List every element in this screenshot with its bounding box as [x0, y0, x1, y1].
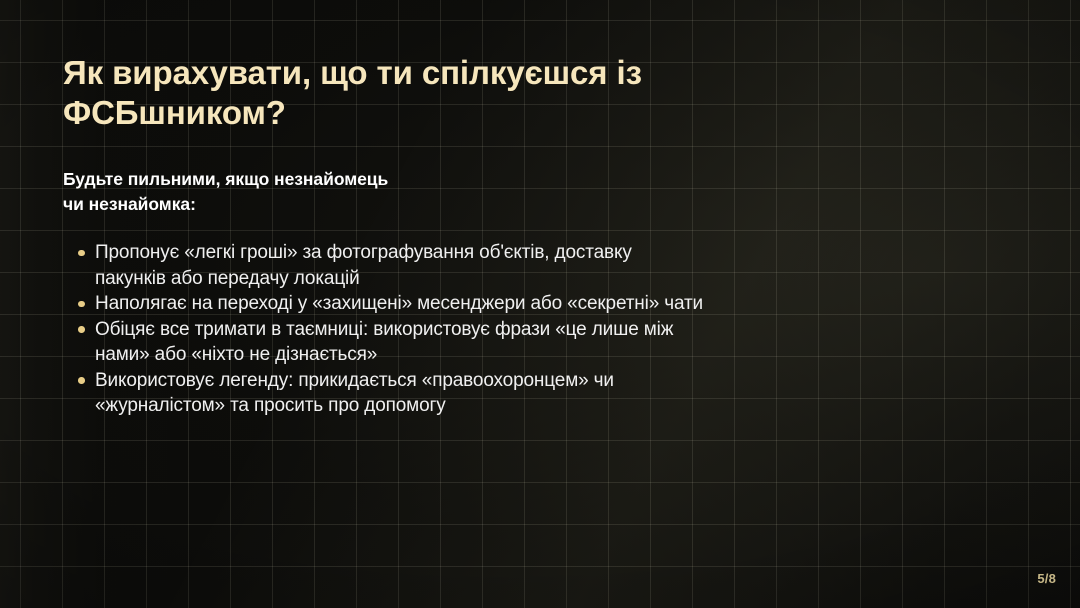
bullet-list: Пропонує «легкі гроші» за фотографування…: [63, 240, 703, 419]
slide-canvas: Як вирахувати, що ти спілкуєшся із ФСБшн…: [0, 0, 1080, 608]
list-item: Використовує легенду: прикидається «прав…: [63, 368, 703, 419]
page-indicator: 5/8: [1037, 571, 1056, 586]
slide-content: Як вирахувати, що ти спілкуєшся із ФСБшн…: [0, 0, 1080, 608]
list-item: Пропонує «легкі гроші» за фотографування…: [63, 240, 703, 291]
slide-title: Як вирахувати, що ти спілкуєшся із ФСБшн…: [63, 53, 753, 133]
list-item: Наполягає на переході у «захищені» месен…: [63, 291, 703, 317]
slide-subtitle: Будьте пильними, якщо незнайомецьчи незн…: [63, 167, 683, 217]
list-item: Обіцяє все тримати в таємниці: використо…: [63, 317, 703, 368]
